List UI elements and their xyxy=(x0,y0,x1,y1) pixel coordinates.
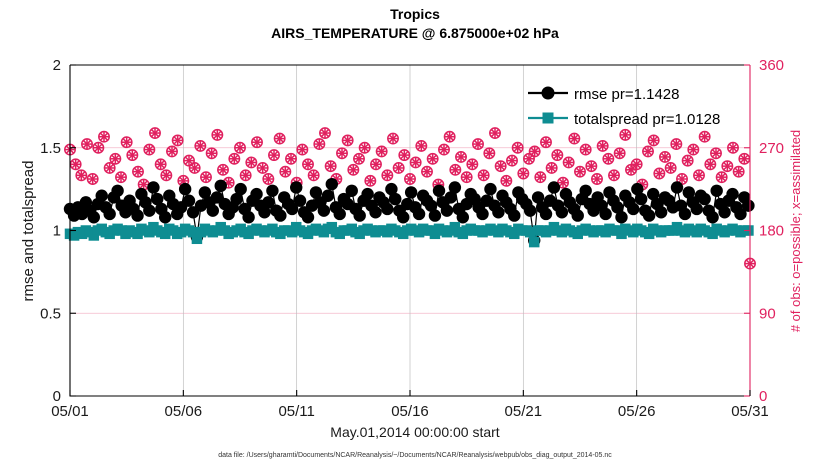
rmse-marker xyxy=(353,209,365,221)
rmse-marker xyxy=(96,190,108,202)
obs-marker xyxy=(280,166,290,176)
rmse-marker xyxy=(457,211,469,223)
rmse-marker xyxy=(326,178,338,190)
y-tick-label-right: 270 xyxy=(759,140,784,157)
rmse-marker xyxy=(643,209,655,221)
obs-marker xyxy=(444,132,454,142)
obs-marker xyxy=(70,159,80,169)
rmse-marker xyxy=(234,183,246,195)
rmse-marker xyxy=(179,183,191,195)
rmse-marker xyxy=(290,181,302,193)
rmse-marker xyxy=(433,185,445,197)
rmse-marker xyxy=(159,211,171,223)
obs-marker xyxy=(308,170,318,180)
obs-marker xyxy=(337,148,347,158)
obs-marker xyxy=(597,141,607,151)
obs-marker xyxy=(155,159,165,169)
obs-marker xyxy=(512,143,522,153)
obs-marker xyxy=(716,172,726,182)
obs-marker xyxy=(354,154,364,164)
obs-marker xyxy=(484,148,494,158)
rmse-marker xyxy=(413,208,425,220)
obs-marker xyxy=(603,154,613,164)
rmse-marker xyxy=(579,185,591,197)
obs-marker xyxy=(184,155,194,165)
obs-marker xyxy=(116,172,126,182)
obs-marker xyxy=(257,163,267,173)
obs-marker xyxy=(586,161,596,171)
rmse-marker xyxy=(131,209,143,221)
legend-marker-circle-icon xyxy=(542,87,555,100)
obs-marker xyxy=(620,130,630,140)
rmse-marker xyxy=(484,183,496,195)
obs-marker xyxy=(252,137,262,147)
rmse-marker xyxy=(274,209,286,221)
obs-marker xyxy=(286,154,296,164)
rmse-marker xyxy=(207,204,219,216)
obs-marker xyxy=(314,139,324,149)
obs-marker xyxy=(456,152,466,162)
rmse-marker xyxy=(679,208,691,220)
obs-marker xyxy=(609,170,619,180)
obs-marker xyxy=(416,141,426,151)
y-axis-right-label: # of obs: o=possible; x=assimilated xyxy=(788,130,803,332)
rmse-marker xyxy=(742,199,754,211)
rmse-marker xyxy=(635,193,647,205)
rmse-marker xyxy=(369,206,381,218)
obs-marker xyxy=(478,170,488,180)
y-tick-label-left: 1 xyxy=(53,223,61,240)
x-tick-label: 05/16 xyxy=(391,403,429,420)
obs-marker xyxy=(325,161,335,171)
rmse-marker xyxy=(242,211,254,223)
obs-marker xyxy=(592,174,602,184)
obs-marker xyxy=(422,166,432,176)
rmse-marker xyxy=(334,208,346,220)
x-axis-label: May.01,2014 00:00:00 start xyxy=(330,424,500,440)
obs-marker xyxy=(342,135,352,145)
obs-marker xyxy=(150,128,160,138)
rmse-marker xyxy=(88,211,100,223)
obs-marker xyxy=(93,143,103,153)
obs-marker xyxy=(671,139,681,149)
obs-marker xyxy=(121,137,131,147)
obs-marker xyxy=(705,159,715,169)
rmse-marker xyxy=(429,209,441,221)
y-tick-label-left: 1.5 xyxy=(40,140,61,157)
obs-marker xyxy=(399,150,409,160)
legend-marker-square-icon xyxy=(543,113,554,124)
obs-marker xyxy=(563,157,573,167)
obs-marker xyxy=(546,163,556,173)
y-tick-label-right: 90 xyxy=(759,305,776,322)
rmse-marker xyxy=(706,211,718,223)
obs-marker xyxy=(274,133,284,143)
rmse-marker xyxy=(381,203,393,215)
rmse-marker xyxy=(266,185,278,197)
x-tick-label: 05/31 xyxy=(731,403,769,420)
obs-marker xyxy=(371,159,381,169)
y-tick-label-left: 0.5 xyxy=(40,305,61,322)
obs-marker xyxy=(467,159,477,169)
rmse-marker xyxy=(615,211,627,223)
rmse-marker xyxy=(294,195,306,207)
rmse-marker xyxy=(698,193,710,205)
obs-marker xyxy=(682,155,692,165)
obs-marker xyxy=(388,133,398,143)
rmse-marker xyxy=(103,208,115,220)
chart-figure: Tropics AIRS_TEMPERATURE @ 6.875000e+02 … xyxy=(0,0,830,470)
obs-marker xyxy=(376,146,386,156)
rmse-marker xyxy=(671,181,683,193)
obs-marker xyxy=(82,139,92,149)
obs-marker xyxy=(269,150,279,160)
rmse-marker xyxy=(556,206,568,218)
y-tick-label-right: 180 xyxy=(759,223,784,240)
rmse-marker xyxy=(215,180,227,192)
chart-subtitle: AIRS_TEMPERATURE @ 6.875000e+02 hPa xyxy=(271,25,559,41)
x-tick-label: 05/21 xyxy=(505,403,543,420)
rmse-marker xyxy=(346,185,358,197)
obs-marker xyxy=(87,174,97,184)
obs-marker xyxy=(189,163,199,173)
obs-marker xyxy=(410,157,420,167)
obs-marker xyxy=(365,176,375,186)
y-axis-left-label: rmse and totalspread xyxy=(20,161,37,302)
totalspread-marker xyxy=(529,237,540,248)
obs-marker xyxy=(427,154,437,164)
obs-marker xyxy=(439,144,449,154)
rmse-marker xyxy=(718,206,730,218)
obs-marker xyxy=(201,172,211,182)
obs-marker xyxy=(728,143,738,153)
obs-marker xyxy=(660,152,670,162)
obs-marker xyxy=(240,170,250,180)
obs-marker xyxy=(218,165,228,175)
rmse-marker xyxy=(361,188,373,200)
rmse-marker xyxy=(492,206,504,218)
rmse-marker xyxy=(524,204,536,216)
obs-marker xyxy=(733,166,743,176)
obs-marker xyxy=(76,170,86,180)
obs-marker xyxy=(631,159,641,169)
obs-marker xyxy=(110,154,120,164)
obs-marker xyxy=(654,168,664,178)
obs-marker xyxy=(303,159,313,169)
obs-marker xyxy=(688,144,698,154)
obs-marker xyxy=(133,166,143,176)
obs-marker xyxy=(739,154,749,164)
y-tick-label-right: 360 xyxy=(759,57,784,74)
y-tick-label-left: 2 xyxy=(53,57,61,74)
chart-title: Tropics xyxy=(390,6,440,22)
obs-marker xyxy=(246,157,256,167)
rmse-marker xyxy=(572,209,584,221)
obs-marker xyxy=(144,144,154,154)
rmse-marker xyxy=(710,185,722,197)
obs-marker xyxy=(461,172,471,182)
rmse-marker xyxy=(691,203,703,215)
rmse-marker xyxy=(389,193,401,205)
legend-label: rmse pr=1.1428 xyxy=(574,86,679,103)
rmse-marker xyxy=(508,209,520,221)
obs-marker xyxy=(161,170,171,180)
obs-marker xyxy=(529,146,539,156)
obs-marker xyxy=(405,174,415,184)
x-tick-label: 05/01 xyxy=(51,403,89,420)
rmse-marker xyxy=(548,181,560,193)
obs-marker xyxy=(359,143,369,153)
obs-marker xyxy=(235,143,245,153)
obs-marker xyxy=(699,132,709,142)
rmse-marker xyxy=(655,206,667,218)
legend-label: totalspread pr=1.0128 xyxy=(574,111,720,128)
obs-marker xyxy=(541,137,551,147)
obs-marker xyxy=(575,166,585,176)
rmse-marker xyxy=(318,204,330,216)
rmse-marker xyxy=(627,203,639,215)
obs-marker xyxy=(195,141,205,151)
obs-marker xyxy=(490,128,500,138)
obs-marker xyxy=(229,154,239,164)
x-tick-label: 05/26 xyxy=(618,403,656,420)
footer-data-file: data file: /Users/gharamti/Documents/NCA… xyxy=(218,452,612,459)
obs-marker xyxy=(167,146,177,156)
obs-marker xyxy=(643,146,653,156)
rmse-marker xyxy=(405,186,417,198)
rmse-marker xyxy=(540,208,552,220)
obs-marker xyxy=(382,170,392,180)
obs-marker xyxy=(99,132,109,142)
obs-marker xyxy=(495,161,505,171)
obs-marker xyxy=(348,165,358,175)
rmse-marker xyxy=(441,204,453,216)
obs-marker xyxy=(722,161,732,171)
obs-marker xyxy=(614,148,624,158)
obs-marker xyxy=(393,163,403,173)
rmse-marker xyxy=(302,211,314,223)
rmse-marker xyxy=(250,188,262,200)
x-tick-label: 05/06 xyxy=(165,403,203,420)
rmse-marker xyxy=(449,181,461,193)
obs-marker xyxy=(665,163,675,173)
obs-marker xyxy=(711,148,721,158)
rmse-marker xyxy=(476,208,488,220)
obs-marker xyxy=(518,168,528,178)
rmse-marker xyxy=(397,211,409,223)
rmse-marker xyxy=(111,185,123,197)
obs-marker xyxy=(524,154,534,164)
obs-marker xyxy=(473,139,483,149)
obs-marker xyxy=(263,174,273,184)
rmse-marker xyxy=(147,181,159,193)
obs-marker xyxy=(648,135,658,145)
obs-marker xyxy=(450,165,460,175)
obs-marker xyxy=(569,133,579,143)
obs-marker xyxy=(507,155,517,165)
x-tick-label: 05/11 xyxy=(278,403,314,420)
obs-marker xyxy=(127,150,137,160)
obs-marker xyxy=(501,176,511,186)
obs-marker xyxy=(172,135,182,145)
obs-marker xyxy=(552,150,562,160)
obs-marker xyxy=(212,130,222,140)
obs-marker xyxy=(580,144,590,154)
obs-marker xyxy=(297,144,307,154)
rmse-marker xyxy=(726,188,738,200)
obs-marker xyxy=(320,128,330,138)
rmse-marker xyxy=(183,195,195,207)
obs-marker xyxy=(694,170,704,180)
obs-marker xyxy=(206,148,216,158)
rmse-marker xyxy=(322,190,334,202)
rmse-marker xyxy=(599,208,611,220)
obs-marker xyxy=(535,172,545,182)
rmse-marker xyxy=(143,204,155,216)
